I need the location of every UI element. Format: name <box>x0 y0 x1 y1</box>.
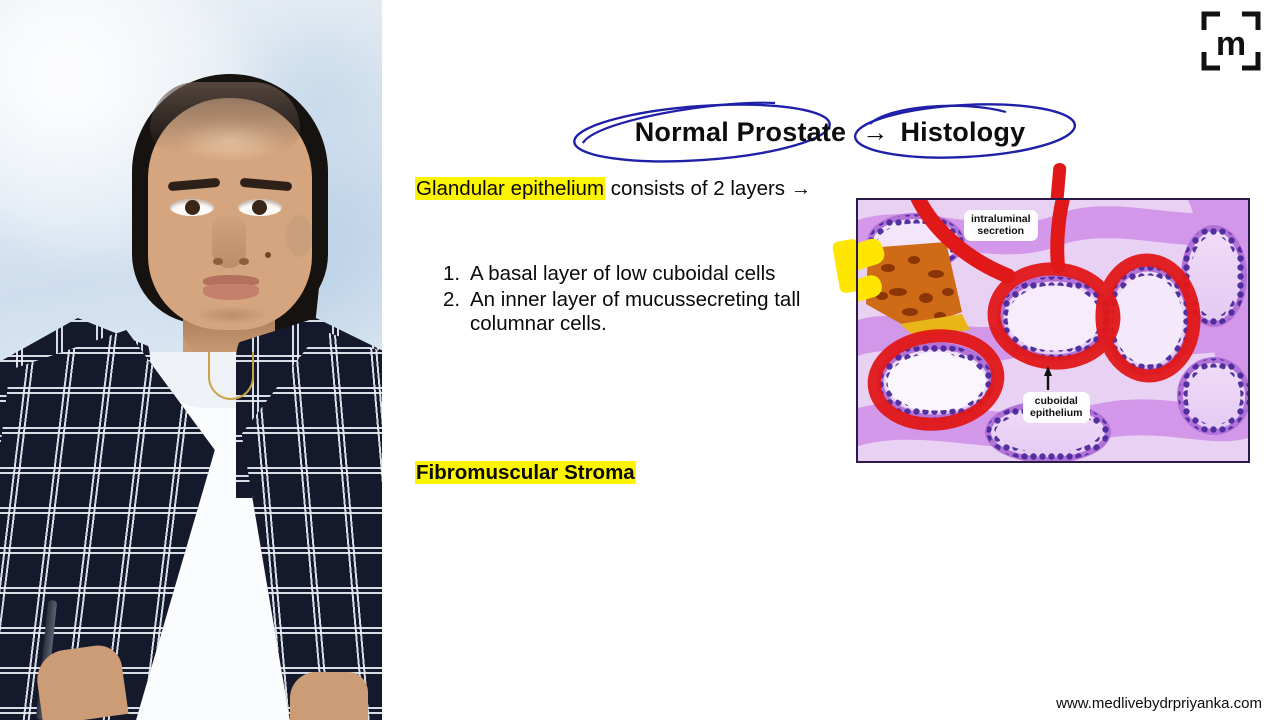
presenter-hand-right <box>290 672 368 720</box>
figure-label-line: cuboidal <box>1030 395 1083 407</box>
presenter-hair-sheen <box>150 82 300 152</box>
title-arrow-icon: → <box>846 117 900 148</box>
lead-paragraph: Glandular epithelium consists of 2 layer… <box>415 176 815 201</box>
title-part-histology: Histology <box>900 117 1025 148</box>
brand-logo-icon: m <box>1200 10 1262 72</box>
list-item-text: A basal layer of low cuboidal cells <box>470 262 835 287</box>
presenter-video-panel <box>0 0 382 720</box>
figure-label-cuboidal-epithelium: cuboidal epithelium <box>1023 392 1090 423</box>
list-item: 2. An inner layer of mucussecreting tall… <box>415 288 835 337</box>
list-item: 1. A basal layer of low cuboidal cells <box>415 262 835 287</box>
slide-title: Normal Prostate → Histology <box>570 100 1090 164</box>
slide-content: m Normal Prostate → Histology Glandular … <box>382 0 1280 720</box>
list-item-number: 2. <box>415 288 470 337</box>
figure-label-line: intraluminal <box>971 213 1031 225</box>
numbered-list: 1. A basal layer of low cuboidal cells 2… <box>415 262 835 338</box>
presenter-nostril <box>213 258 223 265</box>
list-item-number: 1. <box>415 262 470 287</box>
histology-image: intraluminal secretion cuboidal epitheli… <box>856 198 1250 463</box>
presenter-iris-right <box>252 200 267 215</box>
presenter-mole <box>265 252 271 258</box>
figure-label-intraluminal-secretion: intraluminal secretion <box>964 210 1038 241</box>
lead-rest-text: consists of 2 layers → <box>605 177 811 200</box>
presenter-figure <box>0 0 382 720</box>
presenter-necklace <box>208 352 254 400</box>
fibromuscular-stroma-heading: Fibromuscular Stroma <box>415 461 636 485</box>
list-item-text: An inner layer of mucussecreting tall co… <box>470 288 835 337</box>
presenter-nostril <box>239 258 249 265</box>
slide-root: m Normal Prostate → Histology Glandular … <box>0 0 1280 720</box>
title-part-prostate: Normal Prostate <box>635 117 847 148</box>
highlighted-term-glandular-epithelium: Glandular epithelium <box>415 177 605 200</box>
presenter-ear <box>286 215 312 257</box>
presenter-iris-left <box>185 200 200 215</box>
presenter-lip-lower <box>203 284 259 300</box>
logo-letter: m <box>1216 25 1246 63</box>
figure-label-line: epithelium <box>1030 407 1083 419</box>
presenter-chin <box>196 306 268 324</box>
website-url: www.medlivebydrpriyanka.com <box>1056 695 1262 712</box>
highlighted-term-fibromuscular-stroma: Fibromuscular Stroma <box>415 461 636 484</box>
figure-label-line: secretion <box>971 225 1031 237</box>
